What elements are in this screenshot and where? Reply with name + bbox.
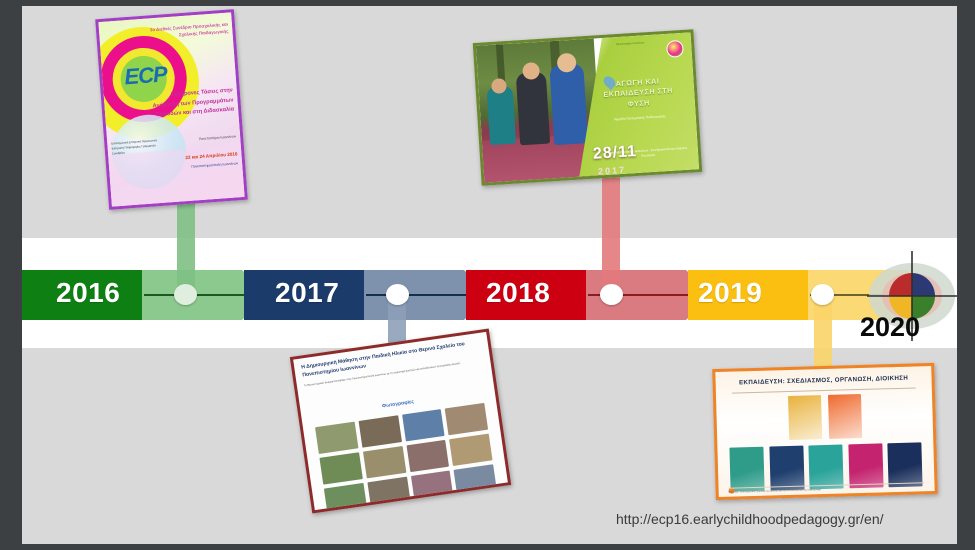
connector-stem-2018 <box>602 176 620 294</box>
url-caption[interactable]: http://ecp16.earlychildhoodpedagogy.gr/e… <box>616 511 884 527</box>
connector-stem-2019 <box>814 294 832 368</box>
document-photo-tile <box>363 446 406 478</box>
books-top-row <box>716 392 933 442</box>
child-figure-middle <box>516 72 550 146</box>
thumbnail-education-books-poster[interactable]: ΕΚΠΑΙΔΕΥΣΗ: ΣΧΕΔΙΑΣΜΟΣ, ΟΡΓΑΝΩΣΗ, ΔΙΟΙΚΗ… <box>712 363 938 500</box>
thumbnail-summer-school-document[interactable]: Η Δημιουργική Μάθηση στην Παιδική Ηλικία… <box>290 328 511 513</box>
presentation-frame: 2016 2017 <box>0 0 975 550</box>
book-cover <box>729 447 764 492</box>
document-photo-tile <box>449 434 492 466</box>
book-cover <box>827 394 861 439</box>
year-label-2017: 2017 <box>275 277 339 309</box>
ecp-logo-text: ECP <box>124 61 168 90</box>
slide-canvas: 2016 2017 <box>22 6 957 544</box>
connector-stem-2016 <box>177 202 195 294</box>
timeline-node-2019[interactable] <box>811 284 834 305</box>
timeline-node-2016[interactable] <box>174 284 197 305</box>
year-label-2020: 2020 <box>860 312 920 343</box>
document-photo-tile <box>315 422 358 454</box>
timeline-node-2018[interactable] <box>600 284 623 305</box>
book-cover <box>787 395 821 440</box>
child-figure-left <box>487 86 517 146</box>
year-label-2019: 2019 <box>698 277 762 309</box>
book-cover <box>769 446 804 491</box>
book-cover <box>808 445 843 490</box>
books-poster-heading: ΕΚΠΑΙΔΕΥΣΗ: ΣΧΕΔΙΑΣΜΟΣ, ΟΡΓΑΝΩΣΗ, ΔΙΟΙΚΗ… <box>716 374 932 387</box>
thumbnail-ecp-conference-poster[interactable]: ECP 3ο Διεθνές Συνέδριο Προσχολικής και … <box>95 9 248 210</box>
thumbnail-outdoor-education-poster[interactable]: Πανεπιστήμιο Ιωαννίνων ΑΓΩΓΗ ΚΑΙ ΕΚΠΑΙΔΕ… <box>473 29 703 186</box>
document-photo-tile <box>319 452 362 484</box>
book-cover <box>887 442 922 487</box>
year-label-2016: 2016 <box>56 277 120 309</box>
poster-title-text: ΑΓΩΓΗ ΚΑΙ ΕΚΠΑΙΔΕΥΣΗ ΣΤΗ ΦΥΣΗ <box>591 75 685 112</box>
timeline-node-2017[interactable] <box>386 284 409 305</box>
document-photo-tile <box>358 415 401 447</box>
year-label-2018: 2018 <box>486 277 550 309</box>
document-photo-tile <box>406 440 449 472</box>
document-photo-grid <box>315 403 495 505</box>
book-cover <box>848 443 883 488</box>
child-figure-right <box>549 63 588 145</box>
document-photo-tile <box>445 403 488 435</box>
document-photo-tile <box>402 409 445 441</box>
poster-year-text: 2017 <box>598 165 627 177</box>
